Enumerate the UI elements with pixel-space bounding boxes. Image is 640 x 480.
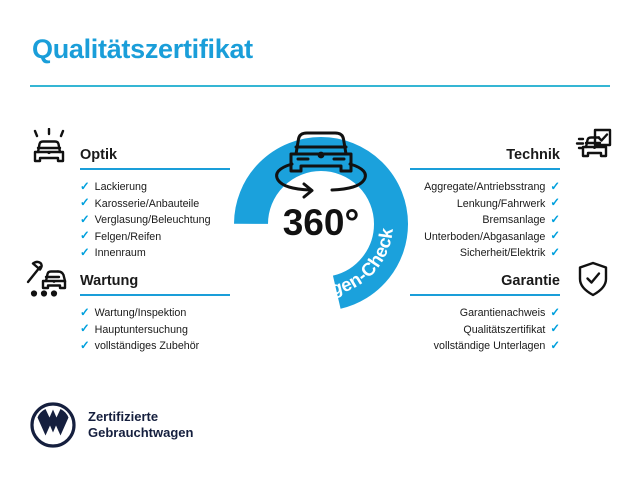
check-icon: ✓ [550, 341, 560, 353]
page-title: Qualitätszertifikat [32, 34, 253, 65]
checklist-garantie: Garantienachweis✓ Qualitätszertifikat✓ v… [410, 305, 560, 355]
badge-360-gebrauchtwagen-check: Gebrauchtwagen-Check 360° [232, 112, 410, 312]
check-icon: ✓ [550, 231, 560, 243]
check-icon: ✓ [80, 341, 90, 353]
section-rule-wartung [80, 294, 230, 296]
check-icon: ✓ [550, 248, 560, 260]
list-item: ✓Wartung/Inspektion [80, 305, 230, 322]
vw-logo [30, 402, 76, 448]
check-icon: ✓ [80, 231, 90, 243]
list-item: Unterboden/Abgasanlage✓ [410, 229, 560, 246]
header-divider [30, 85, 610, 87]
section-optik: Optik ✓Lackierung ✓Karosserie/Anbauteile… [80, 146, 230, 262]
list-item: Sicherheit/Elektrik✓ [410, 245, 560, 262]
badge-center-label: 360° [283, 202, 360, 243]
list-item: ✓Karosserie/Anbauteile [80, 196, 230, 213]
check-icon: ✓ [80, 248, 90, 260]
check-icon: ✓ [550, 215, 560, 227]
list-item: Bremsanlage✓ [410, 212, 560, 229]
section-wartung: Wartung ✓Wartung/Inspektion ✓Hauptunters… [80, 272, 230, 355]
list-item: ✓Lackierung [80, 179, 230, 196]
list-item-label: vollständiges Zubehör [95, 338, 200, 355]
list-item-label: Lackierung [95, 179, 147, 196]
section-heading-garantie: Garantie [410, 272, 560, 290]
section-rule-technik [410, 168, 560, 170]
check-icon: ✓ [550, 198, 560, 210]
shield-check-icon [570, 260, 616, 300]
section-technik: Technik Aggregate/Antriebsstrang✓ Lenkun… [410, 146, 560, 262]
check-icon: ✓ [550, 308, 560, 320]
footer-brand: Zertifizierte Gebrauchtwagen [30, 402, 193, 448]
checklist-wartung: ✓Wartung/Inspektion ✓Hauptuntersuchung ✓… [80, 305, 230, 355]
certificate-page: Qualitätszertifikat Optik ✓Lackierung ✓K… [0, 0, 640, 480]
list-item: Aggregate/Antriebsstrang✓ [410, 179, 560, 196]
list-item-label: Felgen/Reifen [95, 229, 162, 246]
check-icon: ✓ [550, 324, 560, 336]
check-icon: ✓ [550, 182, 560, 194]
wrench-car-icon [24, 260, 70, 300]
section-rule-garantie [410, 294, 560, 296]
footer-line-1: Zertifizierte [88, 409, 193, 425]
list-item: Qualitätszertifikat✓ [410, 322, 560, 339]
check-icon: ✓ [80, 215, 90, 227]
check-icon: ✓ [80, 324, 90, 336]
section-heading-optik: Optik [80, 146, 230, 164]
list-item-label: vollständige Unterlagen [434, 338, 546, 355]
list-item: ✓Innenraum [80, 245, 230, 262]
section-heading-technik: Technik [410, 146, 560, 164]
list-item: ✓Hauptuntersuchung [80, 322, 230, 339]
list-item-label: Bremsanlage [482, 212, 545, 229]
check-icon: ✓ [80, 198, 90, 210]
list-item: Lenkung/Fahrwerk✓ [410, 196, 560, 213]
list-item-label: Unterboden/Abgasanlage [424, 229, 545, 246]
list-item-label: Verglasung/Beleuchtung [95, 212, 211, 229]
check-icon: ✓ [80, 182, 90, 194]
list-item-label: Innenraum [95, 245, 146, 262]
list-item: ✓Felgen/Reifen [80, 229, 230, 246]
car-shine-icon [26, 128, 72, 168]
list-item-label: Karosserie/Anbauteile [95, 196, 200, 213]
check-icon: ✓ [80, 308, 90, 320]
checklist-optik: ✓Lackierung ✓Karosserie/Anbauteile ✓Verg… [80, 179, 230, 262]
list-item-label: Hauptuntersuchung [95, 322, 188, 339]
list-item: vollständige Unterlagen✓ [410, 338, 560, 355]
section-rule-optik [80, 168, 230, 170]
checklist-technik: Aggregate/Antriebsstrang✓ Lenkung/Fahrwe… [410, 179, 560, 262]
footer-line-2: Gebrauchtwagen [88, 425, 193, 441]
list-item-label: Garantienachweis [460, 305, 546, 322]
list-item: ✓vollständiges Zubehör [80, 338, 230, 355]
list-item-label: Sicherheit/Elektrik [460, 245, 546, 262]
list-item-label: Qualitätszertifikat [463, 322, 545, 339]
list-item-label: Aggregate/Antriebsstrang [424, 179, 545, 196]
list-item-label: Wartung/Inspektion [95, 305, 187, 322]
footer-text: Zertifizierte Gebrauchtwagen [88, 409, 193, 441]
section-heading-wartung: Wartung [80, 272, 230, 290]
list-item-label: Lenkung/Fahrwerk [457, 196, 546, 213]
list-item: Garantienachweis✓ [410, 305, 560, 322]
section-garantie: Garantie Garantienachweis✓ Qualitätszert… [410, 272, 560, 355]
list-item: ✓Verglasung/Beleuchtung [80, 212, 230, 229]
car-checkbox-icon [566, 128, 612, 168]
